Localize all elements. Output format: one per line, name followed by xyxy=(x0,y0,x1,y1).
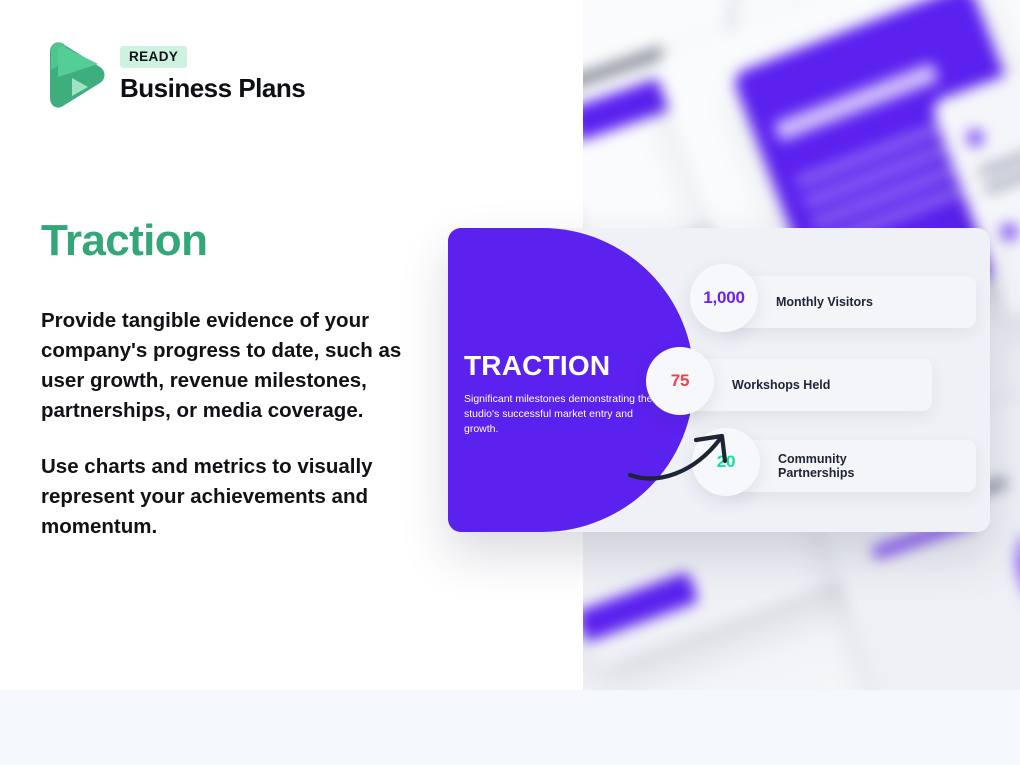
brand-text: READY Business Plans xyxy=(120,46,305,104)
brand-lockup: READY Business Plans xyxy=(42,38,305,112)
brand-name: Business Plans xyxy=(120,73,305,104)
slide-page: READY Business Plans Traction Provide ta… xyxy=(0,0,1020,765)
metric-circle: 75 xyxy=(646,347,714,415)
card-title: TRACTION xyxy=(464,350,610,382)
metric-label: Monthly Visitors xyxy=(776,295,873,309)
metric-label: Workshops Held xyxy=(732,378,830,392)
body-paragraph-1: Provide tangible evidence of your compan… xyxy=(41,306,431,426)
body-copy: Provide tangible evidence of your compan… xyxy=(41,306,431,542)
mock-text-line xyxy=(977,128,1020,178)
body-paragraph-2: Use charts and metrics to visually repre… xyxy=(41,452,431,542)
play-triangle-logo-icon xyxy=(42,38,106,112)
card-subtitle: Significant milestones demonstrating the… xyxy=(464,392,654,437)
metric-value: 75 xyxy=(671,371,690,391)
metric-row[interactable]: 75 Workshops Held xyxy=(646,359,830,411)
ready-badge: READY xyxy=(120,46,187,68)
traction-slide-card: TRACTION Significant milestones demonstr… xyxy=(448,228,990,532)
metric-value: 1,000 xyxy=(703,288,745,308)
page-title: Traction xyxy=(41,216,207,266)
metric-circle: 1,000 xyxy=(690,264,758,332)
metric-row[interactable]: 1,000 Monthly Visitors xyxy=(690,276,873,328)
mock-ring-chart xyxy=(1000,485,1020,638)
mock-accent-bar xyxy=(583,571,699,642)
metric-label: Community Partnerships xyxy=(778,452,888,480)
curved-growth-arrow-icon xyxy=(628,423,743,493)
footer-strip xyxy=(0,690,1020,765)
mock-dot xyxy=(964,127,986,149)
mock-dot xyxy=(999,221,1020,243)
